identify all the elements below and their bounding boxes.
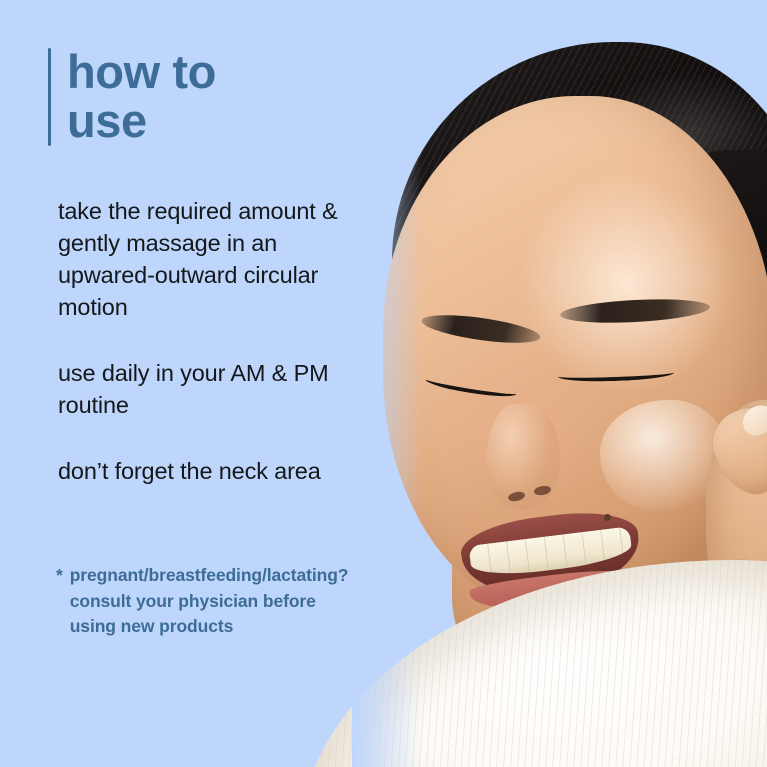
- page-title-text: how to use: [67, 48, 216, 146]
- fingernail-ring: [702, 697, 747, 735]
- title-accent-rule: [48, 48, 51, 146]
- nostril-right: [533, 485, 551, 497]
- eyebrow-right: [560, 296, 711, 326]
- hair: [392, 42, 767, 402]
- footnote: * pregnant/breastfeeding/lactating? cons…: [56, 563, 336, 640]
- hand: [706, 400, 767, 650]
- instruction-step: don’t forget the neck area: [58, 456, 368, 488]
- footnote-asterisk: *: [56, 563, 63, 640]
- mouth: [458, 505, 644, 604]
- face: [383, 96, 767, 616]
- instruction-step: use daily in your AM & PM routine: [58, 358, 368, 422]
- lower-lip: [469, 567, 622, 615]
- fingernail-index: [737, 400, 767, 441]
- hair-strands: [392, 42, 767, 402]
- teeth: [468, 526, 633, 579]
- how-to-use-card: how to use take the required amount & ge…: [0, 0, 767, 767]
- eyebrow-left: [420, 310, 542, 348]
- nostril-left: [507, 490, 525, 502]
- eye-right: [558, 366, 674, 383]
- hair-side: [636, 150, 767, 480]
- serum-sheen: [600, 400, 730, 510]
- instruction-list: take the required amount & gently massag…: [58, 196, 368, 488]
- instruction-step: take the required amount & gently massag…: [58, 196, 368, 324]
- page-title: how to use: [48, 48, 216, 146]
- finger-middle: [689, 551, 767, 672]
- neck: [452, 440, 702, 700]
- eye-left: [425, 373, 518, 400]
- beauty-mark: [604, 514, 611, 521]
- nose: [486, 404, 560, 510]
- content-panel: how to use take the required amount & ge…: [0, 0, 400, 767]
- finger-index: [703, 398, 767, 505]
- footnote-text: pregnant/breastfeeding/lactating? consul…: [70, 563, 349, 640]
- finger-ring: [687, 642, 767, 757]
